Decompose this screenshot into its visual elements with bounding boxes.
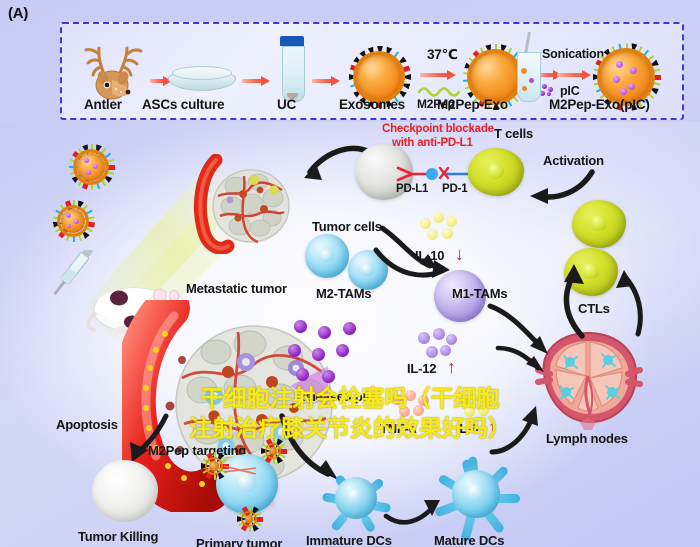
il6-label: IL-6	[456, 422, 478, 435]
metastatic-tumor-label: Metastatic tumor	[186, 282, 287, 295]
il12-label: IL-12	[407, 362, 436, 375]
arrow-to-m1tam	[378, 222, 452, 280]
sonication-tube-icon	[517, 42, 539, 102]
lymph-nodes-label: Lymph nodes	[546, 432, 628, 445]
macrophage-blue-1-icon	[305, 234, 349, 278]
panel-a-box: 37℃ M2Pep Sonication	[60, 22, 684, 120]
released-pic-particles	[288, 320, 364, 384]
m2-tams-label: M2-TAMs	[316, 287, 371, 300]
arrow-lymph-to-ctls-right	[604, 268, 654, 340]
apoptosis-label: Apoptosis	[56, 418, 118, 431]
pd-l1-label: PD-L1	[396, 184, 428, 196]
il12-particles	[418, 328, 458, 358]
checkpoint-blockade-line2: with anti-PD-L1	[392, 138, 473, 150]
step-label-exosomes: Exosomes	[339, 98, 405, 112]
released-pic-label: Released pIC	[296, 390, 375, 403]
process-arrow-3	[312, 76, 340, 85]
process-arrow-6	[557, 70, 591, 79]
figure-root: (A)	[0, 0, 700, 547]
petri-dish-icon	[168, 66, 234, 92]
mature-dc-icon	[434, 452, 518, 536]
primary-tumor-label: Primary tumor	[196, 537, 282, 547]
m2pep-squiggle-icon	[418, 84, 460, 97]
step-label-m2pep-exo: M2Pep-Exo	[437, 98, 508, 112]
immature-dcs-label: Immature DCs	[306, 534, 392, 547]
exosome-particle-2	[52, 200, 94, 242]
tumor-cells-label: Tumor cells	[312, 220, 382, 233]
m1-tams-label: M1-TAMs	[452, 287, 507, 300]
process-arrow-4	[420, 70, 456, 79]
tumor-killing-label: Tumor Killing	[78, 530, 158, 543]
tnfa-trend-arrow: ↑	[425, 418, 434, 436]
tnfa-label: TNF-α	[380, 422, 417, 435]
metastatic-tumor-icon	[188, 154, 298, 254]
il12-trend-arrow: ↑	[447, 358, 456, 376]
targeting-link-icon	[222, 458, 262, 480]
process-arrow-2	[242, 76, 270, 85]
dying-tumor-cell-icon	[92, 460, 158, 522]
m2pep-targeting-label: M2Pep targeting	[148, 444, 246, 457]
immature-dc-icon	[318, 460, 394, 536]
tnfa-particles	[392, 390, 432, 418]
deer-icon	[82, 40, 146, 102]
il10-trend-arrow: ↓	[455, 245, 464, 263]
step-label-m2pep-exo-pic: M2Pep-Exo(pIC)	[549, 98, 650, 112]
step-label-uc: UC	[277, 98, 296, 112]
pic-label: pIC	[560, 85, 580, 98]
mature-dcs-label: Mature DCs	[434, 534, 504, 547]
step-label-ascs-culture: ASCs culture	[142, 98, 224, 112]
t-cell-icon	[468, 148, 524, 196]
checkpoint-blockade-line1: Checkpoint blockade	[382, 124, 494, 136]
panel-a-tag: (A)	[8, 6, 28, 21]
temperature-label: 37℃	[427, 48, 458, 62]
arrow-il12-to-lymph	[496, 340, 550, 382]
exosome-particle-1	[68, 144, 114, 190]
t-cells-label: T cells	[494, 127, 533, 140]
ctl-cell-1-icon	[572, 200, 626, 248]
pd-1-label: PD-1	[442, 184, 467, 196]
step-label-antler: Antler	[84, 98, 122, 112]
panel-b-box: Metastatic tumor Tumor cells Checkpoint …	[0, 122, 700, 547]
arrow-maturedc-to-lymph	[486, 394, 552, 460]
exosome-targeting-3	[236, 506, 262, 532]
